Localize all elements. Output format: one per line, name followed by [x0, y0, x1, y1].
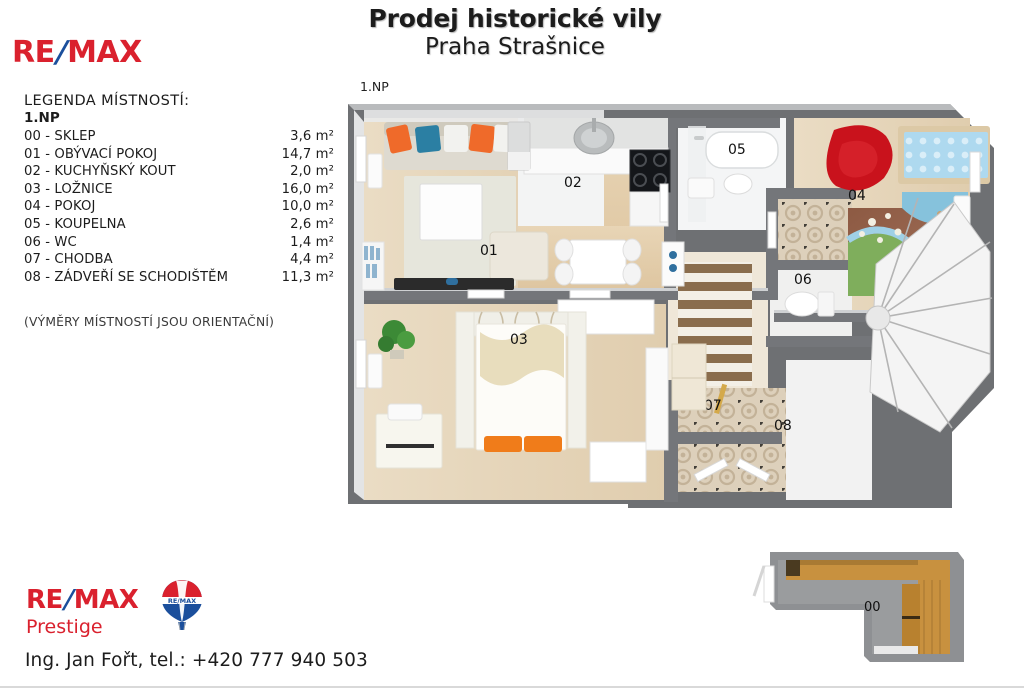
prestige-label: Prestige	[26, 616, 138, 638]
legend-room-label: 04 - POKOJ	[24, 198, 272, 216]
room-number-08: 08	[774, 418, 792, 434]
legend-heading: LEGENDA MÍSTNOSTÍ:	[24, 93, 334, 109]
legend-room-area: 16,0 m²	[272, 181, 334, 199]
legend-row: 00 - SKLEP3,6 m²	[24, 128, 334, 146]
legend-room-label: 08 - ZÁDVEŘÍ SE SCHODIŠTĚM	[24, 269, 272, 287]
room-number-02: 02	[564, 175, 582, 191]
legend-room-area: 4,4 m²	[272, 251, 334, 269]
remax-re-text-footer: RE	[26, 585, 63, 615]
remax-max-text: MAX	[67, 35, 142, 70]
room-number-04: 04	[848, 188, 866, 204]
room-number-03: 03	[510, 332, 528, 348]
page-subtitle: Praha Strašnice	[330, 33, 700, 61]
legend-row: 02 - KUCHYŇSKÝ KOUT2,0 m²	[24, 163, 334, 181]
legend-room-area: 11,3 m²	[272, 269, 334, 287]
balloon-wordmark: RE/MAX	[168, 597, 196, 605]
legend-room-label: 02 - KUCHYŇSKÝ KOUT	[24, 163, 272, 181]
page-title: Prodej historické vily	[330, 4, 700, 33]
legend-room-label: 03 - LOŽNICE	[24, 181, 272, 199]
room-number-01: 01	[480, 243, 498, 259]
legend-note: (VÝMĚRY MÍSTNOSTÍ JSOU ORIENTAČNÍ)	[24, 315, 274, 329]
agent-contact: Ing. Jan Fořt, tel.: +420 777 940 503	[25, 650, 368, 671]
room-number-06: 06	[794, 272, 812, 288]
legend-row-list: 00 - SKLEP3,6 m²01 - OBÝVACÍ POKOJ14,7 m…	[24, 128, 334, 286]
legend-room-label: 01 - OBÝVACÍ POKOJ	[24, 146, 272, 164]
wc-fixtures	[785, 292, 834, 316]
legend-room-label: 06 - WC	[24, 234, 272, 252]
title-block: Prodej historické vily Praha Strašnice	[330, 4, 700, 61]
remax-logo-header: RE/MAX	[12, 36, 172, 70]
remax-prestige-logo: RE/MAX Prestige	[26, 586, 138, 638]
legend-room-area: 10,0 m²	[272, 198, 334, 216]
legend-room-label: 05 - KOUPELNA	[24, 216, 272, 234]
floor-plan-svg: 01 02	[342, 92, 1010, 510]
basement-plan-00: 00	[752, 538, 982, 678]
remax-wordmark: RE/MAX	[12, 36, 172, 70]
legend-room-label: 07 - CHODBA	[24, 251, 272, 269]
legend-row: 06 - WC1,4 m²	[24, 234, 334, 252]
legend-room-area: 3,6 m²	[272, 128, 334, 146]
floor-plan-1np: 01 02	[342, 92, 1010, 510]
remax-wordmark-footer: RE/MAX	[26, 586, 138, 615]
legend-room-area: 2,0 m²	[272, 163, 334, 181]
legend-room-area: 2,6 m²	[272, 216, 334, 234]
legend-room-area: 1,4 m²	[272, 234, 334, 252]
legend-row: 01 - OBÝVACÍ POKOJ14,7 m²	[24, 146, 334, 164]
legend-row: 03 - LOŽNICE16,0 m²	[24, 181, 334, 199]
legend-room-label: 00 - SKLEP	[24, 128, 272, 146]
room-number-05: 05	[728, 142, 746, 158]
legend-row: 05 - KOUPELNA2,6 m²	[24, 216, 334, 234]
room-number-07: 07	[704, 398, 722, 414]
remax-balloon-icon: RE/MAX	[160, 578, 204, 640]
remax-re-text: RE	[12, 35, 55, 70]
legend-row: 04 - POKOJ10,0 m²	[24, 198, 334, 216]
remax-max-text-footer: MAX	[74, 585, 139, 615]
legend-floor-label: 1.NP	[24, 110, 334, 126]
bottom-divider	[0, 686, 1024, 688]
legend-row: 07 - CHODBA4,4 m²	[24, 251, 334, 269]
legend-row: 08 - ZÁDVEŘÍ SE SCHODIŠTĚM11,3 m²	[24, 269, 334, 287]
room-legend: LEGENDA MÍSTNOSTÍ: 1.NP 00 - SKLEP3,6 m²…	[24, 93, 334, 286]
legend-room-area: 14,7 m²	[272, 146, 334, 164]
room-number-00: 00	[864, 600, 881, 615]
